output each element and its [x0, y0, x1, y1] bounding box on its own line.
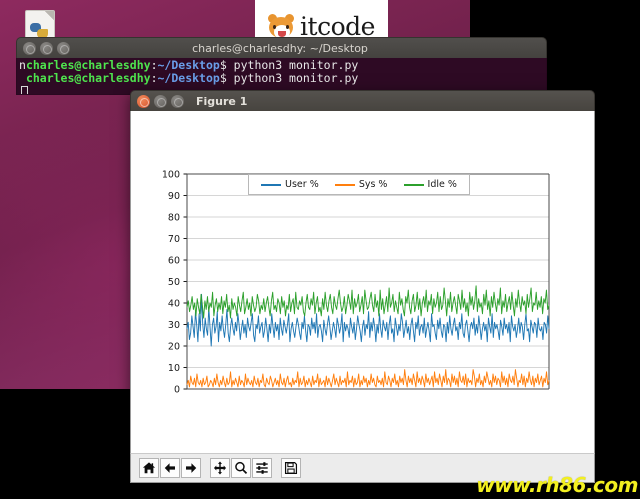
figure-minimize-button[interactable]: [154, 95, 167, 108]
figure-close-button[interactable]: [137, 95, 150, 108]
back-arrow-icon[interactable]: [160, 458, 180, 478]
chart-gridlines: [187, 174, 549, 389]
legend-swatch-sys: [335, 184, 355, 186]
terminal-stray-char: [19, 71, 26, 85]
ytick-label: 40: [168, 298, 180, 309]
block-cursor-icon: [21, 86, 28, 96]
legend-entry-user: User %: [261, 179, 319, 190]
terminal-stray-char: n: [19, 58, 26, 72]
chart-plot-area: 0102030405060708090100: [131, 111, 594, 453]
dog-face-icon: [268, 14, 294, 38]
terminal-close-button[interactable]: [23, 42, 36, 55]
legend-swatch-user: [261, 184, 281, 186]
terminal-maximize-button[interactable]: [57, 42, 70, 55]
forward-arrow-icon[interactable]: [181, 458, 201, 478]
terminal-window: charles@charlesdhy: ~/Desktop ncharles@c…: [16, 37, 547, 95]
figure-titlebar[interactable]: Figure 1: [130, 90, 595, 111]
terminal-prompt-dollar: $: [220, 58, 227, 72]
legend-entry-idle: Idle %: [404, 179, 457, 190]
chart-line-idle: [187, 286, 549, 318]
terminal-window-controls: [23, 42, 70, 55]
ytick-label: 60: [168, 255, 180, 266]
terminal-prompt-user: charles@charlesdhy: [26, 58, 151, 72]
legend-swatch-idle: [404, 184, 424, 186]
chart-line-sys: [187, 370, 549, 387]
terminal-command: python3 monitor.py: [227, 58, 359, 72]
home-icon[interactable]: [139, 458, 159, 478]
site-watermark: www.rh86.com: [476, 473, 638, 497]
ytick-label: 0: [174, 384, 180, 395]
legend-label-sys: Sys %: [359, 179, 388, 190]
ytick-label: 100: [162, 169, 180, 180]
cpu-usage-line-chart: 0102030405060708090100: [131, 111, 594, 453]
ytick-label: 10: [168, 363, 180, 374]
legend-entry-sys: Sys %: [335, 179, 388, 190]
terminal-title-text: charles@charlesdhy: ~/Desktop: [70, 42, 490, 55]
figure-window: Figure 1 0102030405060708090100 User %: [130, 90, 595, 483]
configure-sliders-icon[interactable]: [252, 458, 272, 478]
ytick-label: 20: [168, 341, 180, 352]
chart-series-lines: [187, 286, 549, 387]
terminal-titlebar[interactable]: charles@charlesdhy: ~/Desktop: [16, 37, 547, 58]
chart-ytick-labels: 0102030405060708090100: [162, 169, 180, 395]
chart-legend: User % Sys % Idle %: [248, 174, 470, 195]
ytick-label: 30: [168, 320, 180, 331]
screen-root: itcode charles@charlesdhy: ~/Desktop nch…: [0, 0, 640, 499]
figure-title-text: Figure 1: [196, 95, 247, 108]
ytick-label: 70: [168, 234, 180, 245]
ytick-label: 50: [168, 277, 180, 288]
terminal-prompt-path: ~/Desktop: [158, 58, 220, 72]
figure-window-controls: [137, 95, 184, 108]
zoom-magnifier-icon[interactable]: [231, 458, 251, 478]
terminal-prompt-dollar: $: [220, 71, 227, 85]
file-fold-corner: [45, 11, 54, 20]
terminal-prompt-colon: :: [151, 58, 158, 72]
figure-canvas[interactable]: 0102030405060708090100 User % Sys % Idle…: [130, 111, 595, 453]
figure-maximize-button[interactable]: [171, 95, 184, 108]
dog-head: [269, 17, 293, 38]
terminal-prompt-path: ~/Desktop: [158, 71, 220, 85]
terminal-prompt-user: charles@charlesdhy: [26, 71, 151, 85]
legend-label-user: User %: [285, 179, 319, 190]
save-floppy-icon[interactable]: [281, 458, 301, 478]
terminal-prompt-colon: :: [151, 71, 158, 85]
ytick-label: 90: [168, 191, 180, 202]
terminal-minimize-button[interactable]: [40, 42, 53, 55]
legend-label-idle: Idle %: [428, 179, 457, 190]
terminal-command: python3 monitor.py: [227, 71, 359, 85]
pan-move-icon[interactable]: [210, 458, 230, 478]
terminal-line: charles@charlesdhy:~/Desktop$ python3 mo…: [19, 72, 546, 85]
ytick-label: 80: [168, 212, 180, 223]
